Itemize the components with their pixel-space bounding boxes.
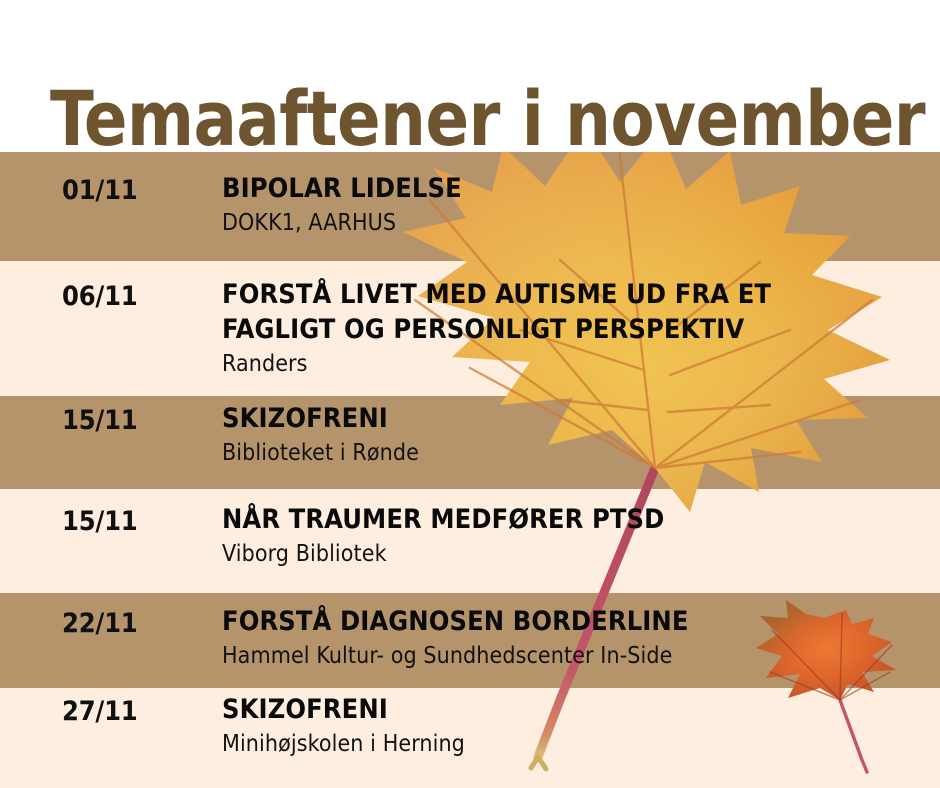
event-date: 27/11 [62, 696, 212, 727]
event-date: 06/11 [62, 281, 212, 312]
event-venue: DOKK1, AARHUS [222, 208, 930, 238]
event-title: NÅR TRAUMER MEDFØRER PTSD [222, 502, 930, 537]
event-venue: Viborg Bibliotek [222, 539, 930, 569]
event-title: SKIZOFRENI [222, 692, 930, 727]
event-row: 27/11SKIZOFRENIMinihøjskolen i Herning [0, 688, 940, 788]
event-row: 06/11FORSTÅ LIVET MED AUTISME UD FRA ET … [0, 261, 940, 396]
event-venue: Biblioteket i Rønde [222, 438, 930, 468]
event-title: FORSTÅ DIAGNOSEN BORDERLINE [222, 604, 930, 639]
event-row: 15/11NÅR TRAUMER MEDFØRER PTSDViborg Bib… [0, 489, 940, 593]
event-date: 15/11 [62, 405, 212, 436]
event-date: 01/11 [62, 175, 212, 206]
event-date: 15/11 [62, 506, 212, 537]
event-title: FORSTÅ LIVET MED AUTISME UD FRA ET FAGLI… [222, 277, 930, 347]
event-title: SKIZOFRENI [222, 401, 930, 436]
event-body: SKIZOFRENIMinihøjskolen i Herning [222, 692, 930, 759]
page-title: Temaaftener i november [50, 79, 925, 159]
event-venue: Hammel Kultur- og Sundhedscenter In-Side [222, 641, 930, 671]
poster-canvas: Temaaftener i november 01/11BIPOLAR LIDE… [0, 0, 940, 788]
event-date: 22/11 [62, 608, 212, 639]
event-row: 01/11BIPOLAR LIDELSEDOKK1, AARHUS [0, 152, 940, 261]
event-body: NÅR TRAUMER MEDFØRER PTSDViborg Bibliote… [222, 502, 930, 569]
event-body: BIPOLAR LIDELSEDOKK1, AARHUS [222, 171, 930, 238]
event-row: 22/11FORSTÅ DIAGNOSEN BORDERLINEHammel K… [0, 593, 940, 688]
event-venue: Randers [222, 349, 930, 379]
event-body: SKIZOFRENIBiblioteket i Rønde [222, 401, 930, 468]
event-venue: Minihøjskolen i Herning [222, 729, 930, 759]
event-row: 15/11SKIZOFRENIBiblioteket i Rønde [0, 396, 940, 489]
poster-header: Temaaftener i november [0, 0, 940, 152]
event-title: BIPOLAR LIDELSE [222, 171, 930, 206]
event-body: FORSTÅ DIAGNOSEN BORDERLINEHammel Kultur… [222, 604, 930, 671]
event-body: FORSTÅ LIVET MED AUTISME UD FRA ET FAGLI… [222, 277, 930, 379]
